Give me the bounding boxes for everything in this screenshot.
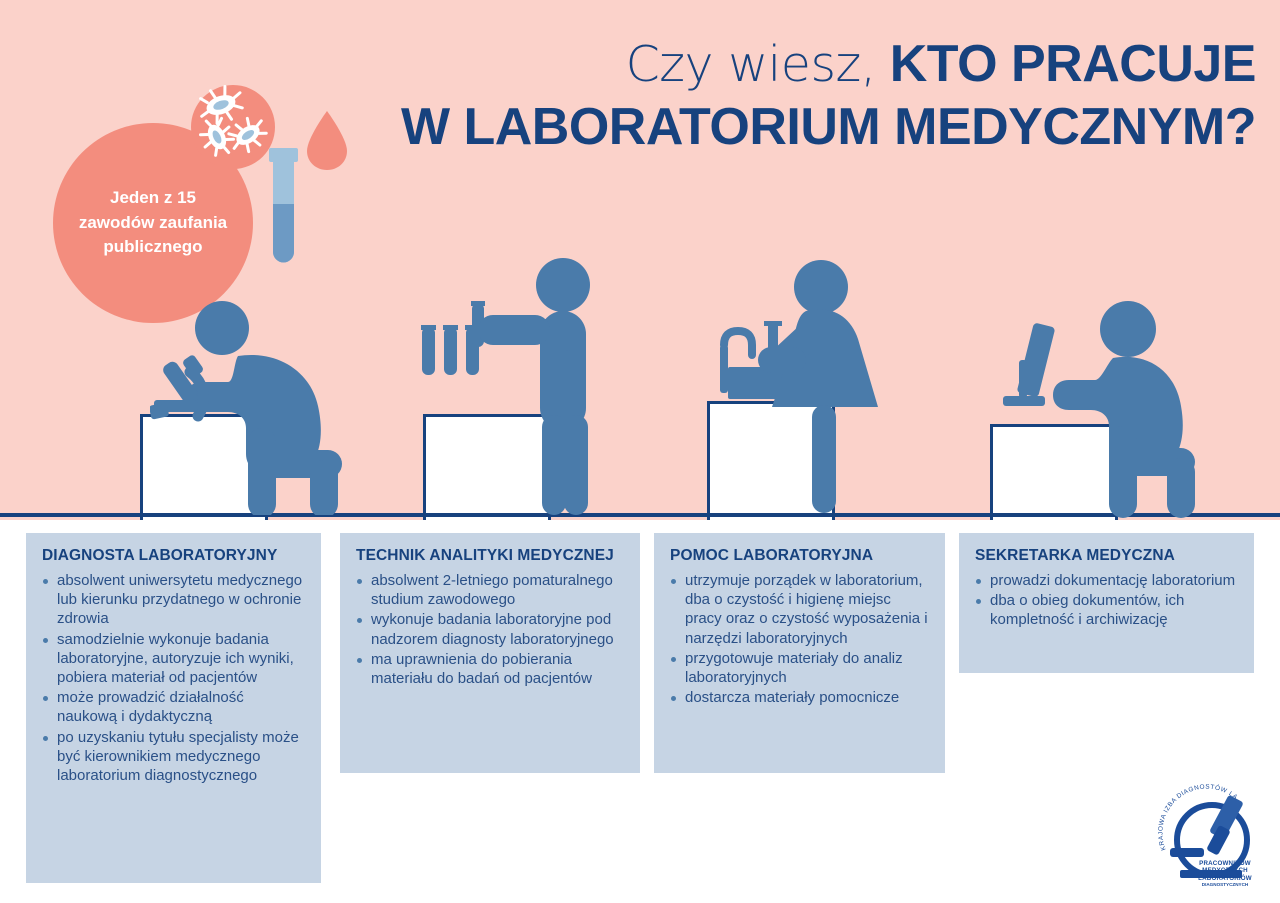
bacteria-icon: [191, 85, 275, 169]
badge-line-2: zawodów zaufania: [66, 211, 241, 236]
role-card-title: TECHNIK ANALITYKI MEDYCZNEJ: [356, 547, 624, 565]
list-item: samodzielnie wykonuje badania laboratory…: [42, 630, 305, 688]
logo-line-1: PRACOWNIKÓW: [1188, 860, 1262, 867]
figure-microscope-scientist: [150, 300, 350, 515]
list-item: wykonuje badania laboratoryjne pod nadzo…: [356, 610, 624, 648]
test-tube-rack-icon: [421, 325, 480, 375]
badge-line-1: Jeden z 15: [66, 186, 241, 211]
role-card-title: SEKRETARKA MEDYCZNA: [975, 547, 1238, 565]
list-item: dostarcza materiały pomocnicze: [670, 688, 929, 707]
logo-line-2: MEDYCZNYCH: [1188, 867, 1262, 874]
list-item: może prowadzić działalność naukową i dyd…: [42, 688, 305, 726]
logo-line-4: DIAGNOSTYCZNYCH: [1188, 882, 1262, 887]
role-card-list: absolwent 2-letniego pomatu­ralnego stud…: [356, 571, 624, 688]
list-item: dba o obieg dokumentów, ich kompletność …: [975, 591, 1238, 629]
page-title: Czy wiesz, KTO PRACUJE W LABORATORIUM ME…: [396, 38, 1256, 154]
badge-text: Jeden z 15 zawodów zaufania publicznego: [66, 186, 241, 260]
roles-card-grid: DIAGNOSTA LABORATORYJNY absolwent uniwer…: [0, 528, 1280, 903]
list-item: prowadzi dokumentację laboratorium: [975, 571, 1238, 590]
hero-section: Czy wiesz, KTO PRACUJE W LABORATORIUM ME…: [0, 0, 1280, 520]
role-card-list: utrzymuje porządek w laborato­rium, dba …: [670, 571, 929, 707]
figure-secretary-computer: [995, 300, 1205, 522]
list-item: utrzymuje porządek w laborato­rium, dba …: [670, 571, 929, 648]
organization-logo[interactable]: KRAJOWA IZBA DIAGNOSTÓW LABORATORYJNYCH …: [1152, 782, 1270, 898]
microscope-icon: [150, 354, 204, 420]
list-item: po uzyskaniu tytułu specjalisty może być…: [42, 728, 305, 786]
role-card-list: absolwent uniwersytetu medycznego lub ki…: [42, 571, 305, 785]
test-tube-icon: [268, 148, 299, 266]
logo-wordmark: PRACOWNIKÓW MEDYCZNYCH LABORATORIÓW DIAG…: [1188, 860, 1262, 887]
list-item: ma uprawnienia do pobierania materiału d…: [356, 650, 624, 688]
role-card-pomoc[interactable]: POMOC LABORATORYJNA utrzymuje porządek w…: [654, 533, 945, 773]
figure-technician-test-tube: [420, 255, 630, 515]
title-line1-bold: KTO PRACUJE: [890, 35, 1256, 93]
germs-circle: [191, 85, 275, 169]
role-card-diagnosta[interactable]: DIAGNOSTA LABORATORYJNY absolwent uniwer…: [26, 533, 321, 883]
role-card-title: POMOC LABORATORYJNA: [670, 547, 929, 565]
list-item: absolwent uniwersytetu medycznego lub ki…: [42, 571, 305, 629]
role-card-title: DIAGNOSTA LABORATORYJNY: [42, 547, 305, 565]
title-line1-thin: Czy wiesz,: [626, 36, 876, 93]
monitor-icon: [1003, 322, 1055, 406]
blood-drop-icon: [305, 110, 349, 172]
role-card-list: prowadzi dokumentację laboratorium dba o…: [975, 571, 1238, 630]
logo-line-3: LABORATORIÓW: [1188, 875, 1262, 882]
title-line2-bold: W LABORATORIUM MEDYCZNYM?: [401, 98, 1256, 156]
figure-lab-assistant-sink: [700, 255, 920, 515]
badge-line-3: publicznego: [66, 235, 241, 260]
list-item: przygotowuje materiały do analiz laborat…: [670, 649, 929, 687]
role-card-technik[interactable]: TECHNIK ANALITYKI MEDYCZNEJ absolwent 2-…: [340, 533, 640, 773]
role-card-sekretarka[interactable]: SEKRETARKA MEDYCZNA prowadzi dokumentacj…: [959, 533, 1254, 673]
infographic-canvas: Czy wiesz, KTO PRACUJE W LABORATORIUM ME…: [0, 0, 1280, 903]
list-item: absolwent 2-letniego pomatu­ralnego stud…: [356, 571, 624, 609]
